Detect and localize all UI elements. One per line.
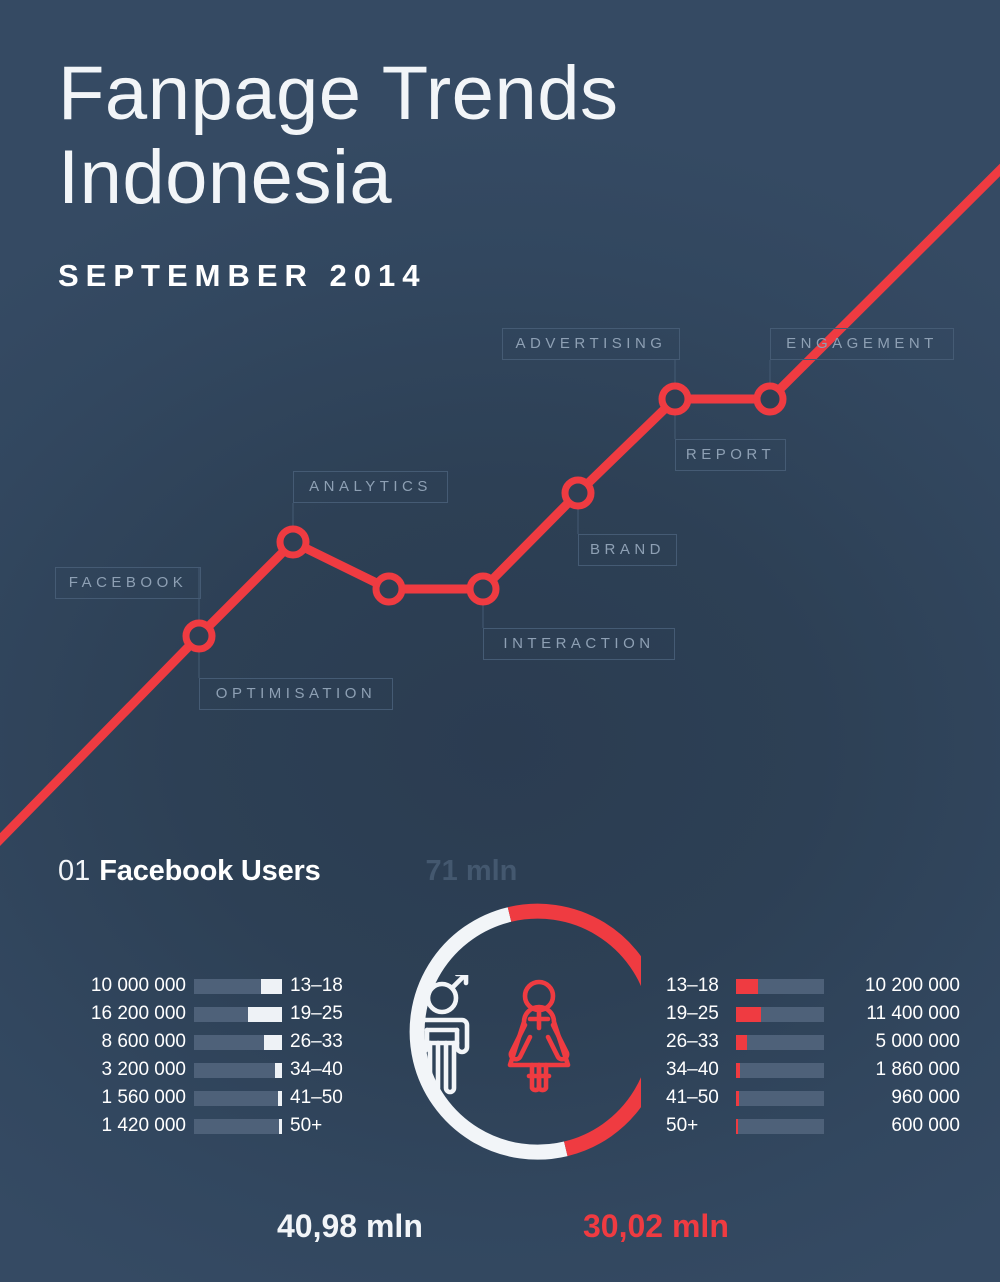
chart-label-analytics[interactable]: ANALYTICS bbox=[293, 471, 448, 503]
trend-marker-analytics[interactable] bbox=[280, 529, 306, 555]
female-figure-icon bbox=[510, 982, 568, 1090]
table-row: 1 560 000 41–50 bbox=[58, 1084, 352, 1112]
female-bar-34-40 bbox=[736, 1063, 824, 1078]
male-value-13-18: 10 000 000 bbox=[58, 975, 186, 997]
section-number: 01 bbox=[58, 855, 90, 888]
header-block: Fanpage Trends Indonesia SEPTEMBER 2014 bbox=[58, 52, 619, 294]
female-bar-41-50 bbox=[736, 1091, 824, 1106]
male-range-13-18: 13–18 bbox=[290, 975, 352, 997]
male-value-26-33: 8 600 000 bbox=[58, 1031, 186, 1053]
table-row: 34–40 1 860 000 bbox=[666, 1056, 960, 1084]
male-bar-26-33 bbox=[194, 1035, 282, 1050]
chart-label-optimisation[interactable]: OPTIMISATION bbox=[199, 678, 393, 710]
male-bar-34-40 bbox=[194, 1063, 282, 1078]
male-figure-icon bbox=[417, 975, 467, 1092]
female-range-26-33: 26–33 bbox=[666, 1031, 728, 1053]
male-bar-19-25 bbox=[194, 1007, 282, 1022]
table-row: 16 200 000 19–25 bbox=[58, 1000, 352, 1028]
total-female-users: 30,02 mln bbox=[583, 1208, 729, 1245]
female-range-34-40: 34–40 bbox=[666, 1059, 728, 1081]
female-value-26-33: 5 000 000 bbox=[832, 1031, 960, 1053]
male-range-19-25: 19–25 bbox=[290, 1003, 352, 1025]
male-age-table: 10 000 000 13–18 16 200 000 19–25 8 600 … bbox=[58, 972, 352, 1140]
gender-icon-group bbox=[408, 975, 613, 1100]
table-row: 19–25 11 400 000 bbox=[666, 1000, 960, 1028]
female-bar-50plus bbox=[736, 1119, 824, 1134]
table-row: 50+ 600 000 bbox=[666, 1112, 960, 1140]
female-bar-13-18 bbox=[736, 979, 824, 994]
chart-label-facebook[interactable]: FACEBOOK bbox=[55, 567, 201, 599]
infographic-page: Fanpage Trends Indonesia SEPTEMBER 2014 bbox=[0, 0, 1000, 1282]
chart-label-engagement[interactable]: ENGAGEMENT bbox=[770, 328, 954, 360]
female-value-34-40: 1 860 000 bbox=[832, 1059, 960, 1081]
female-range-41-50: 41–50 bbox=[666, 1087, 728, 1109]
male-bar-13-18 bbox=[194, 979, 282, 994]
male-value-50plus: 1 420 000 bbox=[58, 1115, 186, 1137]
trend-marker-brand[interactable] bbox=[565, 480, 591, 506]
table-row: 3 200 000 34–40 bbox=[58, 1056, 352, 1084]
female-bar-26-33 bbox=[736, 1035, 824, 1050]
section-header: 01 Facebook Users 71 mln bbox=[58, 855, 958, 888]
trend-marker-interaction-b[interactable] bbox=[470, 576, 496, 602]
chart-label-advertising[interactable]: ADVERTISING bbox=[502, 328, 680, 360]
female-value-13-18: 10 200 000 bbox=[832, 975, 960, 997]
page-subtitle: SEPTEMBER 2014 bbox=[58, 258, 619, 294]
female-value-50plus: 600 000 bbox=[832, 1115, 960, 1137]
section-total-users: 71 mln bbox=[426, 855, 518, 888]
gender-icons-svg bbox=[408, 975, 613, 1100]
female-value-41-50: 960 000 bbox=[832, 1087, 960, 1109]
male-range-34-40: 34–40 bbox=[290, 1059, 352, 1081]
table-row: 41–50 960 000 bbox=[666, 1084, 960, 1112]
trend-marker-interaction-a[interactable] bbox=[376, 576, 402, 602]
trend-marker-engagement[interactable] bbox=[757, 386, 783, 412]
page-title-line1: Fanpage Trends bbox=[58, 52, 619, 136]
table-row: 8 600 000 26–33 bbox=[58, 1028, 352, 1056]
table-row: 26–33 5 000 000 bbox=[666, 1028, 960, 1056]
male-range-26-33: 26–33 bbox=[290, 1031, 352, 1053]
total-male-users: 40,98 mln bbox=[277, 1208, 423, 1245]
trend-marker-report[interactable] bbox=[662, 386, 688, 412]
chart-label-interaction[interactable]: INTERACTION bbox=[483, 628, 675, 660]
section-title: Facebook Users bbox=[99, 855, 320, 888]
table-row: 1 420 000 50+ bbox=[58, 1112, 352, 1140]
female-range-13-18: 13–18 bbox=[666, 975, 728, 997]
chart-label-brand[interactable]: BRAND bbox=[578, 534, 677, 566]
female-range-50plus: 50+ bbox=[666, 1115, 728, 1137]
trend-marker-optimisation[interactable] bbox=[186, 623, 212, 649]
page-title-line2: Indonesia bbox=[58, 136, 619, 220]
male-bar-50plus bbox=[194, 1119, 282, 1134]
table-row: 13–18 10 200 000 bbox=[666, 972, 960, 1000]
female-range-19-25: 19–25 bbox=[666, 1003, 728, 1025]
female-bar-19-25 bbox=[736, 1007, 824, 1022]
male-range-41-50: 41–50 bbox=[290, 1087, 352, 1109]
female-value-19-25: 11 400 000 bbox=[832, 1003, 960, 1025]
chart-label-report[interactable]: REPORT bbox=[675, 439, 786, 471]
table-row: 10 000 000 13–18 bbox=[58, 972, 352, 1000]
female-age-table: 13–18 10 200 000 19–25 11 400 000 26–33 … bbox=[666, 972, 960, 1140]
male-range-50plus: 50+ bbox=[290, 1115, 352, 1137]
male-value-19-25: 16 200 000 bbox=[58, 1003, 186, 1025]
male-bar-41-50 bbox=[194, 1091, 282, 1106]
male-value-41-50: 1 560 000 bbox=[58, 1087, 186, 1109]
male-value-34-40: 3 200 000 bbox=[58, 1059, 186, 1081]
trend-markers bbox=[186, 386, 783, 649]
